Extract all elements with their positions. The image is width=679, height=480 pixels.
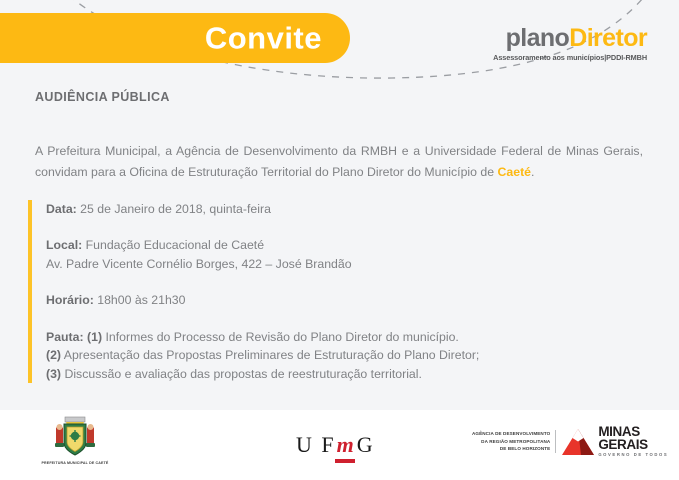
detail-row-time: Horário: 18h00 às 21h30 (46, 291, 648, 309)
detail-row-agenda: Pauta: (1) Informes do Processo de Revis… (46, 328, 648, 383)
place-address: Av. Padre Vicente Cornélio Borges, 422 –… (46, 255, 648, 273)
place-value: Fundação Educacional de Caeté (82, 238, 264, 252)
time-value: 18h00 às 21h30 (94, 293, 186, 307)
ufmg-letters-uf: U F (296, 432, 336, 457)
place-line: Local: Fundação Educacional de Caeté (46, 236, 648, 254)
agenda-item-1-text: Informes do Processo de Revisão do Plano… (102, 330, 459, 344)
poster-footer: PREFEITURA MUNICIPAL DE CAETÉ U FmG AGÊN… (0, 410, 679, 480)
mg-tagline: GOVERNO DE TODOS (598, 452, 668, 457)
plano-diretor-wordmark: planoDiretor (493, 26, 647, 51)
agenda-item-3-text: Discussão e avaliação das propostas de r… (61, 367, 422, 381)
agencia-line-2: DA REGIÃO METROPOLITANA (472, 438, 550, 446)
agencia-line-1: AGÊNCIA DE DESENVOLVIMENTO (472, 430, 550, 438)
minas-gerais-logo: MINAS GERAIS GOVERNO DE TODOS (556, 426, 668, 457)
plano-diretor-logo: planoDiretor Assessoramento aos municípi… (493, 26, 647, 62)
agenda-label: Pauta: (46, 330, 84, 344)
logo-word-plano: plano (506, 24, 570, 52)
date-label: Data: (46, 202, 77, 216)
page-subtitle: AUDIÊNCIA PÚBLICA (35, 90, 170, 104)
agenda-item-2: (2) Apresentação das Propostas Prelimina… (46, 346, 648, 364)
intro-city-name: Caeté (498, 165, 532, 179)
agenda-item-2-text: Apresentação das Propostas Preliminares … (61, 348, 479, 362)
minas-gerais-wordmark: MINAS GERAIS GOVERNO DE TODOS (598, 426, 668, 457)
coat-of-arms-icon (52, 416, 98, 460)
place-label: Local: (46, 238, 82, 252)
invitation-poster: Convite planoDiretor Assessoramento aos … (0, 0, 679, 480)
intro-text-part2: . (531, 165, 534, 179)
plano-diretor-tagline: Assessoramento aos municípios|PDDI-RMBH (493, 53, 647, 62)
logo-word-diretor: Diretor (569, 24, 647, 52)
agenda-item-2-number: (2) (46, 348, 61, 362)
agencia-rmbh-text: AGÊNCIA DE DESENVOLVIMENTO DA REGIÃO MET… (472, 430, 556, 453)
mg-word-gerais: GERAIS (598, 439, 668, 452)
convite-label: Convite (205, 23, 322, 54)
time-label: Horário: (46, 293, 94, 307)
ufmg-letter-g: G (357, 432, 375, 457)
governo-minas-logo-group: AGÊNCIA DE DESENVOLVIMENTO DA REGIÃO MET… (472, 426, 668, 457)
intro-text-part1: A Prefeitura Municipal, a Agência de Des… (35, 144, 643, 178)
ufmg-logo: U FmG (296, 432, 375, 458)
event-details-block: Data: 25 de Janeiro de 2018, quinta-feir… (28, 200, 648, 383)
ufmg-letter-m: m (336, 432, 357, 458)
poster-header: Convite planoDiretor Assessoramento aos … (0, 0, 679, 78)
prefeitura-caete-logo: PREFEITURA MUNICIPAL DE CAETÉ (38, 416, 112, 465)
detail-row-date: Data: 25 de Janeiro de 2018, quinta-feir… (46, 200, 648, 218)
agenda-item-3-number: (3) (46, 367, 61, 381)
detail-row-place: Local: Fundação Educacional de Caeté Av.… (46, 236, 648, 273)
convite-banner: Convite (0, 13, 350, 63)
prefeitura-caption: PREFEITURA MUNICIPAL DE CAETÉ (38, 461, 112, 465)
agenda-item-1: Pauta: (1) Informes do Processo de Revis… (46, 328, 648, 346)
intro-paragraph: A Prefeitura Municipal, a Agência de Des… (35, 141, 643, 182)
ufmg-underline-bar (335, 459, 355, 463)
date-value: 25 de Janeiro de 2018, quinta-feira (77, 202, 271, 216)
agenda-item-1-number: (1) (84, 330, 102, 344)
agencia-line-3: DE BELO HORIZONTE (472, 445, 550, 453)
ufmg-letter-m-glyph: m (337, 432, 356, 457)
agenda-item-3: (3) Discussão e avaliação das propostas … (46, 365, 648, 383)
mountain-triangle-icon (561, 428, 595, 456)
